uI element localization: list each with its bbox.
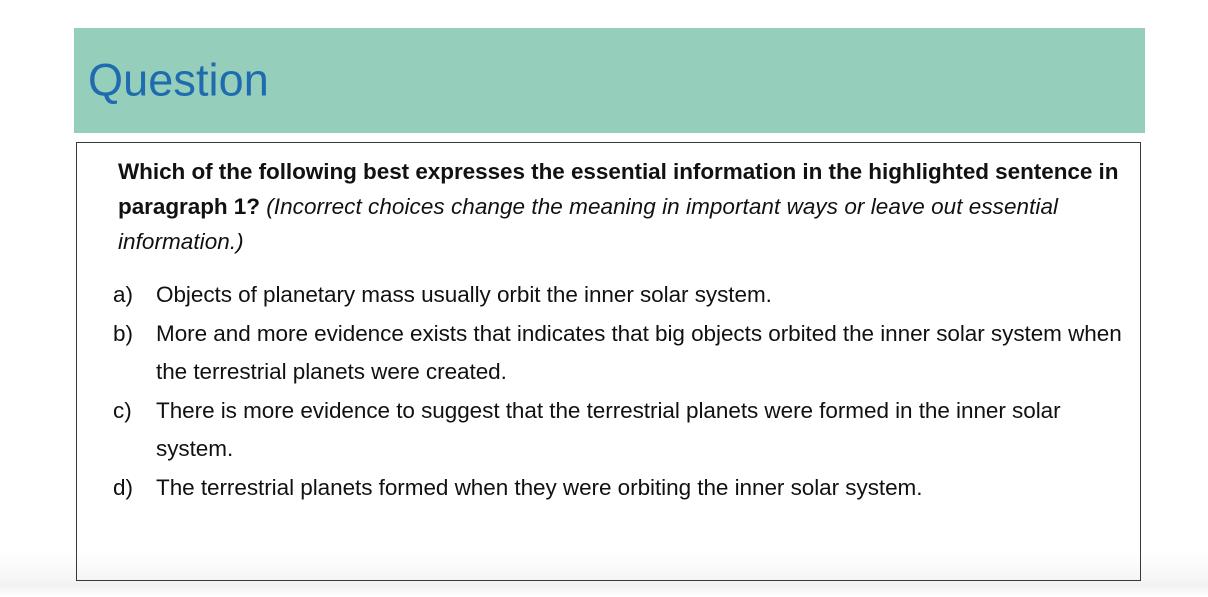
option-marker-b: b) (113, 315, 145, 354)
option-marker-d: d) (113, 469, 145, 508)
option-text-c: There is more evidence to suggest that t… (156, 392, 1123, 469)
list-item[interactable]: c) There is more evidence to suggest tha… (113, 392, 1123, 469)
option-text-a: Objects of planetary mass usually orbit … (156, 276, 1123, 315)
question-card: Which of the following best expresses th… (76, 142, 1141, 581)
option-marker-c: c) (113, 392, 145, 431)
option-text-d: The terrestrial planets formed when they… (156, 469, 1123, 508)
option-text-b: More and more evidence exists that indic… (156, 315, 1123, 392)
slide-title-band: Question (74, 28, 1145, 133)
list-item[interactable]: d) The terrestrial planets formed when t… (113, 469, 1123, 508)
list-item[interactable]: b) More and more evidence exists that in… (113, 315, 1123, 392)
question-prompt: Which of the following best expresses th… (118, 154, 1120, 259)
answer-options-list: a) Objects of planetary mass usually orb… (113, 276, 1123, 507)
slide-canvas: Question Which of the following best exp… (0, 0, 1208, 597)
page-title: Question (88, 57, 269, 102)
list-item[interactable]: a) Objects of planetary mass usually orb… (113, 276, 1123, 315)
option-marker-a: a) (113, 276, 145, 315)
question-prompt-note: (Incorrect choices change the meaning in… (118, 194, 1058, 254)
